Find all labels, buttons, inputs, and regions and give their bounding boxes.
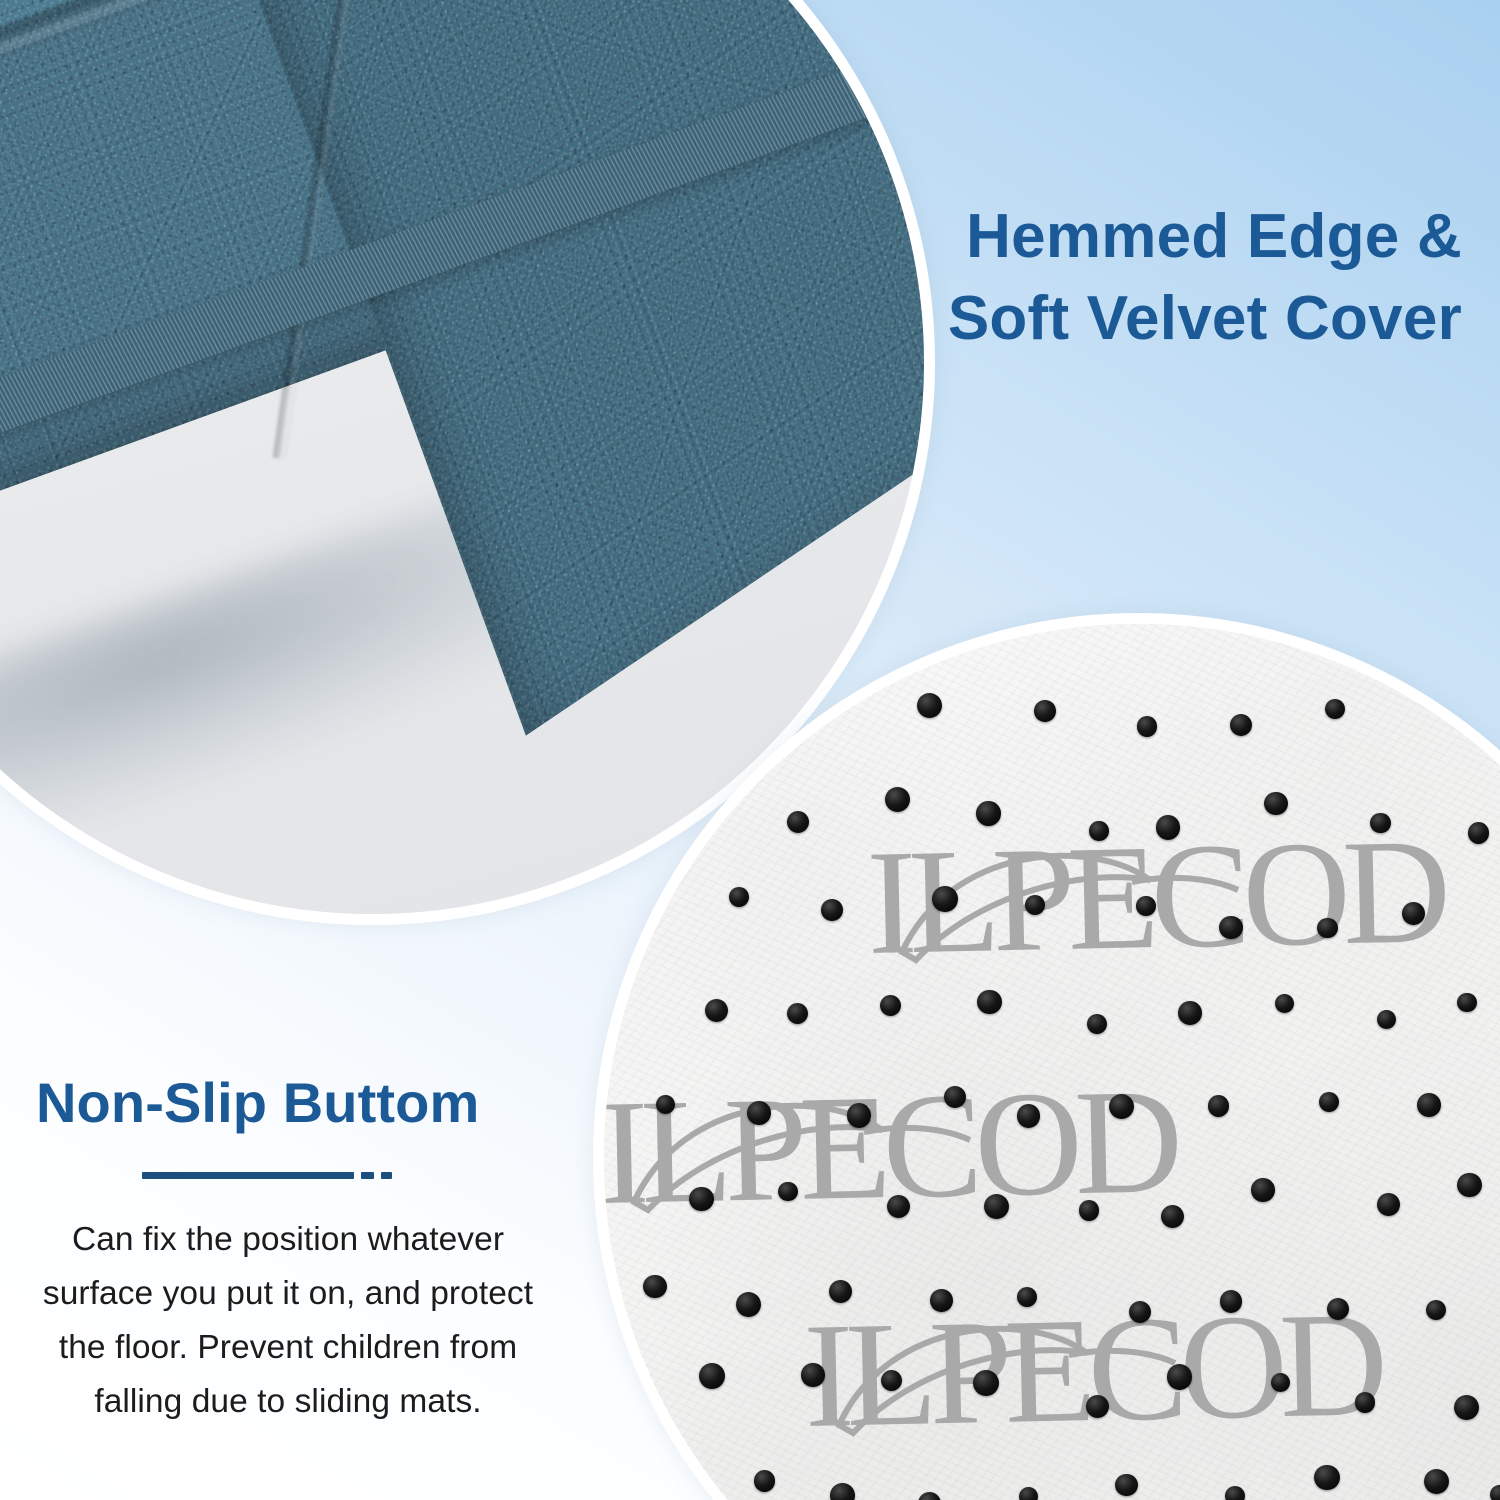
nonslip-dot bbox=[1251, 1178, 1274, 1201]
nonslip-dot bbox=[1220, 1290, 1242, 1312]
nonslip-dot bbox=[977, 990, 1002, 1015]
headline-line-1: Hemmed Edge & bbox=[948, 196, 1462, 278]
nonslip-photo-circle: ILPECOD ILPECOD ILPECOD bbox=[593, 613, 1500, 1500]
divider-dash bbox=[381, 1172, 392, 1179]
nonslip-dot bbox=[1167, 1364, 1192, 1389]
nonslip-dot bbox=[1219, 916, 1242, 939]
nonslip-dot bbox=[729, 887, 749, 907]
nonslip-dot bbox=[1136, 896, 1155, 915]
nonslip-dot bbox=[1178, 1001, 1202, 1025]
nonslip-dot bbox=[1454, 1395, 1479, 1420]
nonslip-dot bbox=[1225, 1486, 1245, 1500]
nonslip-dot bbox=[821, 899, 842, 920]
nonslip-dot bbox=[885, 787, 910, 812]
nonslip-dot bbox=[1319, 1092, 1339, 1112]
nonslip-dot bbox=[1264, 792, 1288, 816]
nonslip-dot bbox=[1275, 994, 1294, 1013]
page-title: Hemmed Edge & Soft Velvet Cover bbox=[948, 196, 1462, 360]
nonslip-dot bbox=[881, 1370, 902, 1391]
nonslip-dot bbox=[829, 1280, 852, 1303]
nonslip-dot bbox=[1089, 821, 1108, 840]
nonslip-dot bbox=[1156, 815, 1181, 840]
nonslip-dot bbox=[1417, 1093, 1441, 1117]
nonslip-dot bbox=[1355, 1392, 1376, 1413]
velvet-cushion bbox=[0, 0, 935, 691]
divider-dash bbox=[361, 1172, 374, 1179]
nonslip-dot bbox=[1109, 1094, 1134, 1119]
nonslip-dot bbox=[830, 1483, 855, 1500]
nonslip-dot bbox=[1457, 1173, 1482, 1198]
nonslip-dot bbox=[699, 1363, 725, 1389]
nonslip-dot bbox=[1115, 1474, 1138, 1497]
nonslip-dot bbox=[917, 693, 942, 718]
headline-line-2: Soft Velvet Cover bbox=[948, 278, 1462, 360]
nonslip-dot bbox=[787, 811, 809, 833]
nonslip-dot bbox=[1314, 1465, 1339, 1490]
nonslip-dot bbox=[1317, 918, 1337, 938]
nonslip-dot bbox=[1370, 813, 1390, 833]
nonslip-dot bbox=[1017, 1104, 1040, 1127]
nonslip-dot bbox=[930, 1289, 953, 1312]
nonslip-dot bbox=[1017, 1287, 1037, 1307]
nonslip-dot bbox=[1086, 1395, 1109, 1418]
nonslip-dot bbox=[944, 1086, 966, 1108]
nonslip-dot bbox=[778, 1182, 797, 1201]
nonslip-dot bbox=[1208, 1095, 1230, 1117]
title-divider bbox=[8, 1172, 568, 1179]
nonslip-dot bbox=[984, 1194, 1009, 1219]
nonslip-dot bbox=[880, 995, 901, 1016]
nonslip-dot bbox=[1457, 993, 1476, 1012]
nonslip-dot bbox=[1161, 1205, 1184, 1228]
nonslip-dot bbox=[1327, 1298, 1349, 1320]
nonslip-dot bbox=[1129, 1301, 1151, 1323]
nonslip-dot bbox=[1025, 895, 1045, 915]
nonslip-dot bbox=[1424, 1469, 1449, 1494]
nonslip-dot bbox=[801, 1363, 824, 1386]
nonslip-dot bbox=[1034, 700, 1056, 722]
divider-bar bbox=[142, 1172, 354, 1179]
nonslip-dot bbox=[847, 1103, 871, 1127]
nonslip-dot bbox=[1087, 1014, 1107, 1034]
nonslip-dot bbox=[1230, 714, 1252, 736]
nonslip-dot bbox=[689, 1187, 714, 1212]
nonslip-dot bbox=[754, 1470, 775, 1491]
nonslip-dot bbox=[1377, 1193, 1400, 1216]
nonslip-dot bbox=[747, 1101, 771, 1125]
infographic-canvas: ILPECOD ILPECOD ILPECOD Hemmed Edge & So… bbox=[0, 0, 1500, 1500]
nonslip-dot bbox=[1402, 902, 1425, 925]
nonslip-dot bbox=[1377, 1010, 1396, 1029]
nonslip-dot bbox=[973, 1370, 999, 1396]
feature-description: Can fix the position whatever surface yo… bbox=[8, 1213, 568, 1430]
nonslip-dot bbox=[1079, 1200, 1099, 1220]
nonslip-dot bbox=[1468, 822, 1490, 844]
feature-block: Non-Slip Buttom Can fix the position wha… bbox=[8, 1072, 568, 1430]
nonslip-dot bbox=[976, 801, 1000, 825]
nonslip-dot bbox=[932, 886, 958, 912]
feature-title: Non-Slip Buttom bbox=[8, 1072, 568, 1134]
